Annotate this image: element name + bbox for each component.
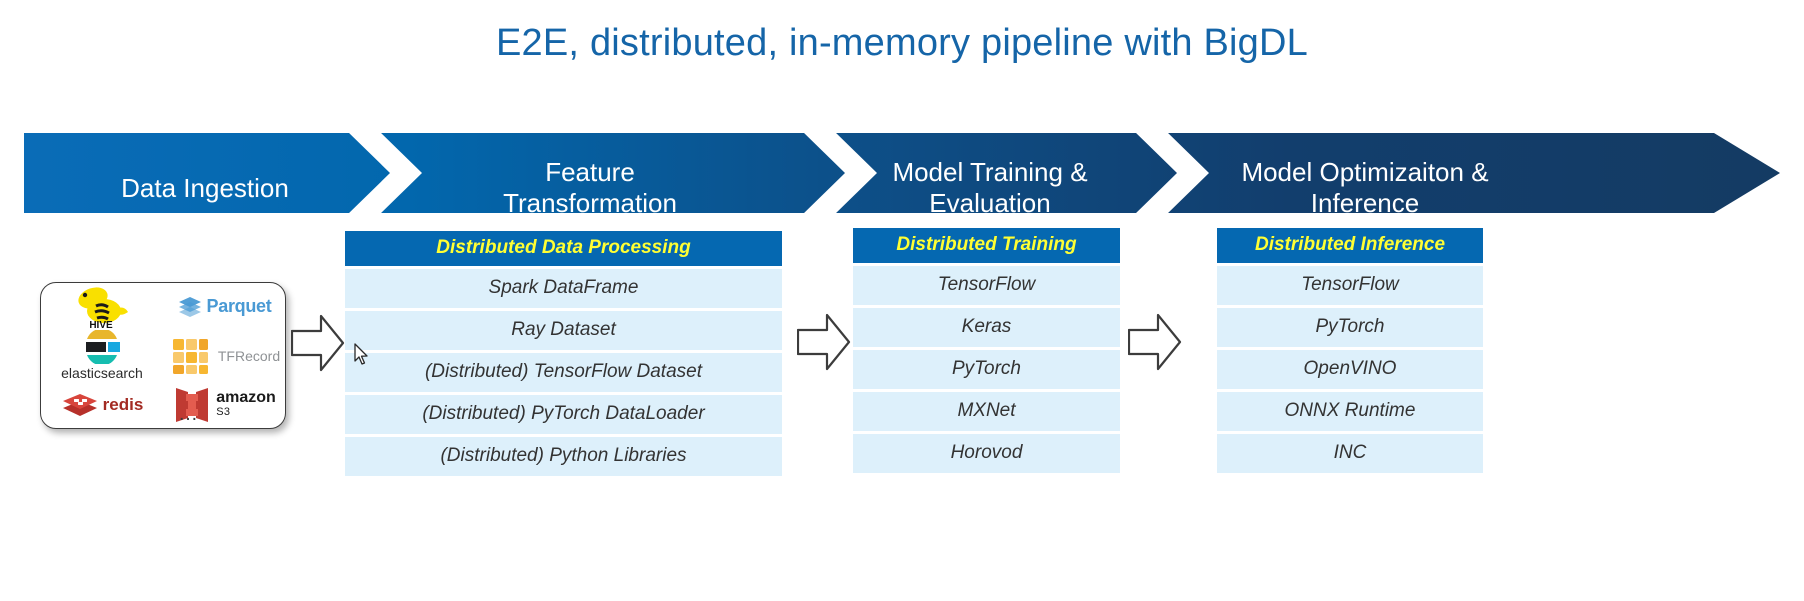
- table-row[interactable]: (Distributed) Python Libraries: [345, 437, 782, 476]
- table-row[interactable]: OpenVINO: [1217, 350, 1483, 389]
- table-row[interactable]: (Distributed) TensorFlow Dataset: [345, 353, 782, 392]
- svg-text:HIVE: HIVE: [89, 320, 113, 329]
- arrow-ingest-to-feature: [291, 311, 345, 375]
- table-row[interactable]: INC: [1217, 434, 1483, 473]
- parquet-label: Parquet: [207, 296, 272, 317]
- stage-label-data-ingestion: Data Ingestion: [60, 173, 350, 204]
- stage-label-feature-transformation: Feature Transformation: [430, 157, 750, 219]
- page-title: E2E, distributed, in-memory pipeline wit…: [0, 22, 1804, 65]
- table-row[interactable]: Horovod: [853, 434, 1120, 473]
- table-row[interactable]: (Distributed) PyTorch DataLoader: [345, 395, 782, 434]
- mouse-cursor-icon: [354, 343, 370, 367]
- table-row[interactable]: TensorFlow: [853, 266, 1120, 305]
- elasticsearch-label: elasticsearch: [61, 365, 143, 381]
- table-row[interactable]: PyTorch: [1217, 308, 1483, 347]
- hive-icon: HIVE: [71, 285, 133, 329]
- data-source-logo-grid: HIVE Parquet elasticsearch: [41, 283, 285, 428]
- table-row[interactable]: Keras: [853, 308, 1120, 347]
- elasticsearch-icon: [81, 330, 123, 364]
- parquet-icon: [177, 296, 203, 318]
- logo-elasticsearch: elasticsearch: [61, 330, 143, 381]
- logo-parquet: Parquet: [177, 296, 272, 318]
- stage-label-model-optimization: Model Optimizaiton & Inference: [1190, 157, 1540, 219]
- table-distributed-training: Distributed Training TensorFlow Keras Py…: [853, 228, 1120, 473]
- s3-word: S3: [216, 405, 276, 420]
- table-row[interactable]: TensorFlow: [1217, 266, 1483, 305]
- tfrecord-label: TFRecord: [218, 348, 280, 364]
- logo-hive: HIVE: [71, 285, 133, 329]
- table-row[interactable]: Ray Dataset: [345, 311, 782, 350]
- stage-label-model-training: Model Training & Evaluation: [830, 157, 1150, 219]
- table-distributed-inference: Distributed Inference TensorFlow PyTorch…: [1217, 228, 1483, 473]
- table-header: Distributed Inference: [1217, 228, 1483, 263]
- arrow-feature-to-training: [797, 310, 851, 374]
- table-row[interactable]: Spark DataFrame: [345, 269, 782, 308]
- table-distributed-data-processing: Distributed Data Processing Spark DataFr…: [345, 231, 782, 476]
- amazon-s3-label: amazon S3: [216, 390, 276, 420]
- logo-redis: redis: [61, 392, 144, 418]
- redis-label: redis: [103, 395, 144, 415]
- arrow-training-to-inference: [1128, 310, 1182, 374]
- table-header: Distributed Training: [853, 228, 1120, 263]
- logo-tfrecord: TFRecord: [168, 334, 280, 378]
- amazon-word: amazon: [216, 389, 276, 406]
- table-header: Distributed Data Processing: [345, 231, 782, 266]
- redis-icon: [61, 392, 99, 418]
- data-source-box: HIVE Parquet elasticsearch: [40, 282, 286, 429]
- tfrecord-icon: [168, 334, 214, 378]
- more-sources-ellipsis: …: [178, 409, 200, 419]
- table-row[interactable]: MXNet: [853, 392, 1120, 431]
- table-row[interactable]: PyTorch: [853, 350, 1120, 389]
- table-row[interactable]: ONNX Runtime: [1217, 392, 1483, 431]
